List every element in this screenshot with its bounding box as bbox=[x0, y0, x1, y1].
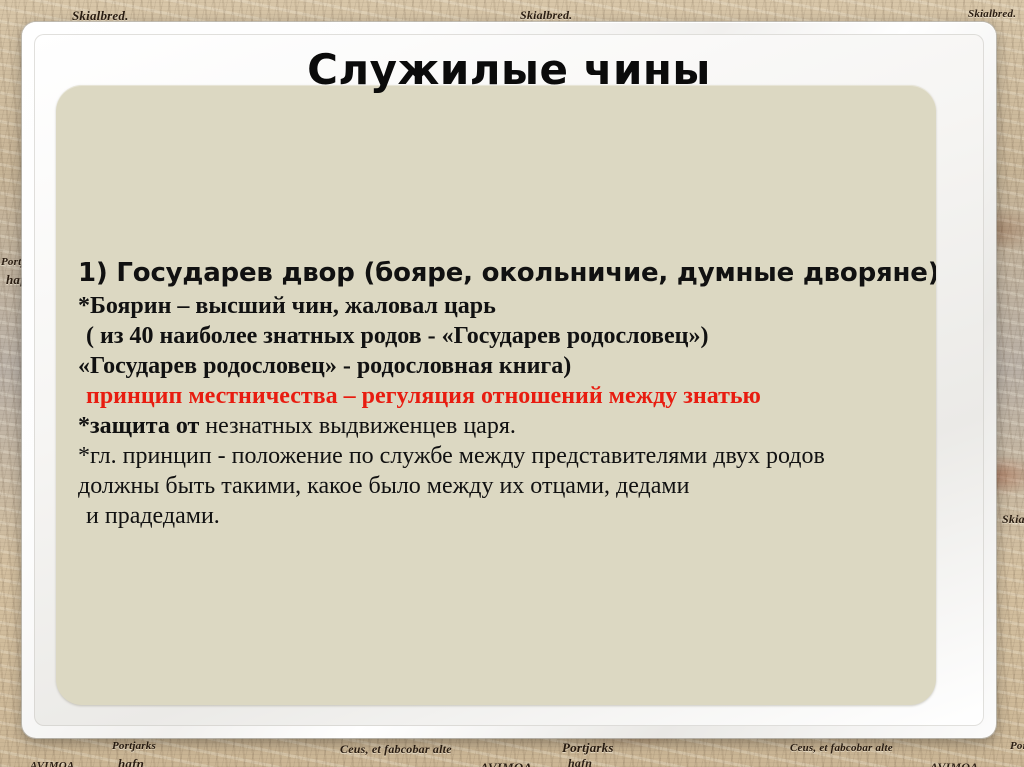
content-panel: 1) Государев двор (бояре, окольничие, ду… bbox=[56, 85, 936, 705]
map-place-label: Ceus, et fabcobar alte bbox=[340, 742, 452, 757]
map-place-label: Ceus, et fabcobar alte bbox=[790, 742, 893, 754]
emphasis-run: *защита от bbox=[78, 413, 205, 439]
map-place-label: AVIMOA bbox=[930, 760, 978, 767]
text-line-boyarin-highest-rank: *Боярин – высший чин, жаловал царь bbox=[78, 291, 928, 321]
normal-run: незнатных выдвиженцев царя. bbox=[205, 413, 516, 439]
slide-frame: Служилые чины 1) Государев двор (бояре, … bbox=[22, 22, 996, 738]
text-line-heading-gosudarev-dvor: 1) Государев двор (бояре, окольничие, ду… bbox=[78, 255, 928, 291]
map-place-label: hafn bbox=[118, 756, 144, 767]
map-place-label: hafn bbox=[568, 756, 592, 767]
text-line-and-great-grandfathers: и прадедами. bbox=[78, 501, 928, 531]
body-text-block: 1) Государев двор (бояре, окольничие, ду… bbox=[78, 255, 928, 531]
map-place-label: Skialbred bbox=[1002, 512, 1024, 527]
text-line-forty-noble-families: ( из 40 наиболее знатных родов - «Госуда… bbox=[78, 321, 928, 351]
title-band: Служилые чины bbox=[56, 40, 962, 100]
text-line-mestnichestvo-principle: принцип местничества – регуляция отношен… bbox=[78, 381, 928, 411]
map-place-label: Portjarks bbox=[1010, 740, 1024, 752]
map-place-label: Skialbred. bbox=[968, 8, 1016, 20]
text-line-must-match-fathers: должны быть такими, какое было между их … bbox=[78, 471, 928, 501]
map-place-label: AVIMOA bbox=[480, 760, 532, 767]
text-line-main-principle: *гл. принцип - положение по службе между… bbox=[78, 441, 928, 471]
text-line-rodoslovets-book: «Государев родословец» - родословная кни… bbox=[78, 351, 928, 381]
text-line-protection-from-upstarts: *защита от незнатных выдвиженцев царя. bbox=[78, 411, 928, 441]
page-title: Служилые чины bbox=[307, 49, 711, 91]
map-place-label: AVIMOA bbox=[30, 760, 74, 767]
slide-root: Skialbred.Skialbred.Skialbred.KlukaKluka… bbox=[0, 0, 1024, 767]
map-place-label: Portjarks bbox=[562, 740, 614, 756]
map-place-label: Portjarks bbox=[112, 740, 156, 752]
map-place-label: Skialbred. bbox=[520, 8, 572, 23]
